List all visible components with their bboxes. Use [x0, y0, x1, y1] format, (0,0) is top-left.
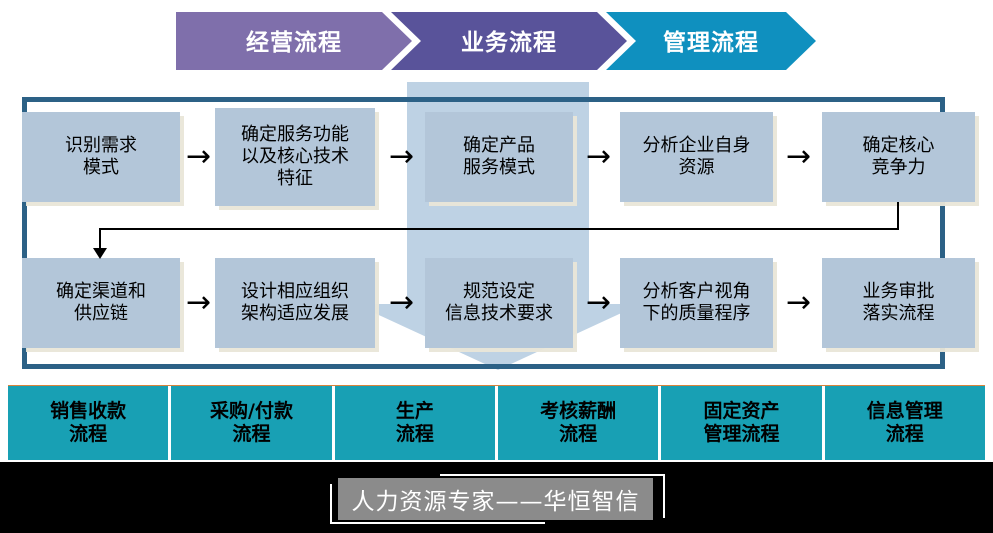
category-cell-2[interactable]: 采购/付款流程 [171, 386, 334, 460]
connector-horizontal [99, 228, 899, 230]
process-box-r1c5-label: 确定核心竞争力 [859, 135, 939, 179]
flow-arrow-r1-3: → [586, 142, 611, 172]
footer-caption-box: 人力资源专家——华恒智信 [338, 478, 653, 520]
chevron-stage-2[interactable]: 业务流程 [391, 12, 627, 70]
process-box-r1c3-label: 确定产品服务模式 [459, 135, 539, 179]
process-box-r2c5-label: 业务审批落实流程 [859, 281, 939, 325]
process-box-r1c4-label: 分析企业自身资源 [639, 135, 755, 179]
connector-arrowhead-icon [93, 248, 107, 259]
category-cell-3[interactable]: 生产流程 [335, 386, 498, 460]
process-box-r1c2[interactable]: 确定服务功能以及核心技术特征 [215, 108, 375, 206]
flow-arrow-r2-1: → [186, 288, 211, 318]
category-cell-5[interactable]: 固定资产管理流程 [661, 386, 824, 460]
process-box-r2c3-label: 规范设定信息技术要求 [441, 281, 557, 325]
process-box-r2c2-label: 设计相应组织架构适应发展 [237, 281, 353, 325]
flow-arrow-r2-3: → [586, 288, 611, 318]
process-box-r2c2[interactable]: 设计相应组织架构适应发展 [215, 258, 375, 348]
process-box-r2c4[interactable]: 分析客户视角下的质量程序 [620, 258, 773, 348]
category-cell-4-label: 考核薪酬流程 [540, 400, 616, 446]
process-box-r1c2-label: 确定服务功能以及核心技术特征 [237, 124, 353, 190]
flow-arrow-r1-2: → [389, 142, 414, 172]
category-cell-6[interactable]: 信息管理流程 [825, 386, 985, 460]
process-box-r1c1[interactable]: 识别需求模式 [22, 112, 180, 202]
process-box-r1c5[interactable]: 确定核心竞争力 [822, 112, 975, 202]
chevron-stage-3-label: 管理流程 [663, 23, 759, 57]
footer-caption-label: 人力资源专家——华恒智信 [352, 482, 640, 516]
chevron-stage-1[interactable]: 经营流程 [176, 12, 412, 70]
process-box-r2c1-label: 确定渠道和供应链 [52, 281, 150, 325]
footer-bracket-left [330, 484, 332, 524]
flow-arrow-r2-2: → [389, 288, 414, 318]
category-cell-6-label: 信息管理流程 [867, 400, 943, 446]
category-cell-5-label: 固定资产管理流程 [703, 400, 779, 446]
footer-bracket-bottom [330, 522, 545, 524]
process-stage-chevrons: 经营流程 业务流程 管理流程 [176, 12, 816, 70]
chevron-stage-2-label: 业务流程 [461, 23, 557, 57]
process-box-r2c5[interactable]: 业务审批落实流程 [822, 258, 975, 348]
process-box-r1c4[interactable]: 分析企业自身资源 [620, 112, 773, 202]
flow-arrow-r1-4: → [786, 142, 811, 172]
category-cell-1-label: 销售收款流程 [50, 400, 126, 446]
footer-bracket-top [440, 474, 665, 476]
flow-arrow-r1-1: → [186, 142, 211, 172]
process-box-r1c1-label: 识别需求模式 [61, 135, 141, 179]
process-box-r1c3[interactable]: 确定产品服务模式 [425, 112, 573, 202]
category-cell-4[interactable]: 考核薪酬流程 [498, 386, 661, 460]
process-box-r2c3[interactable]: 规范设定信息技术要求 [425, 258, 573, 348]
process-category-bar: 销售收款流程 采购/付款流程 生产流程 考核薪酬流程 固定资产管理流程 信息管理… [8, 385, 985, 460]
footer-bracket-right [663, 474, 665, 518]
diagram-canvas: 经营流程 业务流程 管理流程 识别需求模式 → 确定服务功能以及核心技术特征 →… [0, 0, 993, 533]
chevron-stage-3[interactable]: 管理流程 [606, 12, 816, 70]
category-cell-3-label: 生产流程 [396, 400, 434, 446]
chevron-stage-1-label: 经营流程 [246, 23, 342, 57]
connector-vertical-left [99, 228, 101, 250]
footer-caption-group: 人力资源专家——华恒智信 [330, 474, 665, 520]
category-cell-2-label: 采购/付款流程 [210, 400, 293, 446]
category-cell-1[interactable]: 销售收款流程 [8, 386, 171, 460]
flow-arrow-r2-4: → [786, 288, 811, 318]
process-box-r2c4-label: 分析客户视角下的质量程序 [639, 281, 755, 325]
process-box-r2c1[interactable]: 确定渠道和供应链 [22, 258, 180, 348]
connector-vertical-right [897, 202, 899, 230]
